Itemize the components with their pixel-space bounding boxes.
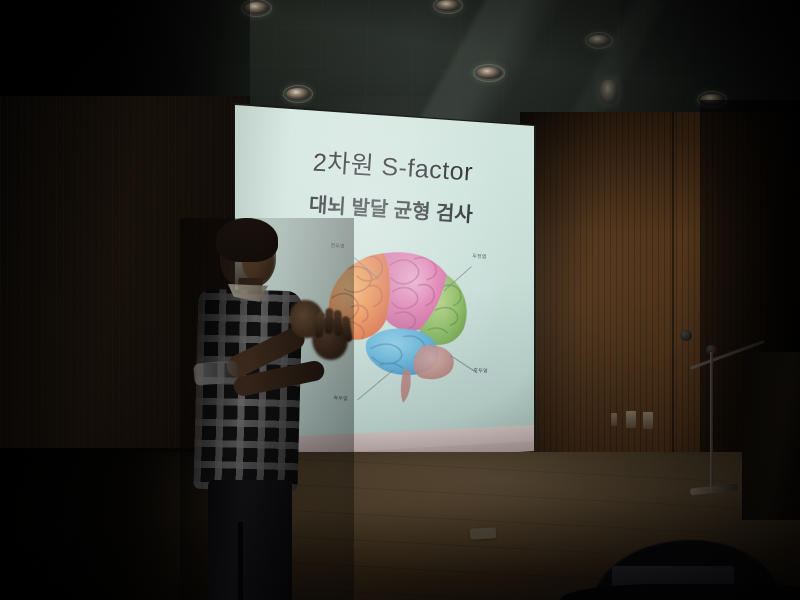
wall-switch[interactable] [611, 413, 617, 426]
presenter-sleeve [193, 360, 239, 386]
wall-switch[interactable] [626, 411, 636, 428]
presenter-leg-gap [238, 522, 243, 600]
downlight-icon [436, 0, 460, 11]
downlight-icon [286, 88, 310, 100]
photo-scene: 2차원 S-factor 대뇌 발달 균형 검사 [0, 0, 800, 600]
floor-plate [470, 527, 497, 539]
presenter-trousers [208, 480, 292, 600]
presenter-hair [216, 218, 278, 262]
microphone-icon [680, 330, 692, 341]
downlight-icon [476, 67, 502, 79]
downlight-icon [600, 80, 618, 104]
presenter-fingers [316, 310, 354, 360]
wall-outlet[interactable] [643, 412, 653, 429]
microphone-stand-pole [710, 352, 713, 492]
lectern [742, 352, 800, 520]
downlight-icon [588, 35, 610, 46]
presenter [186, 222, 346, 600]
